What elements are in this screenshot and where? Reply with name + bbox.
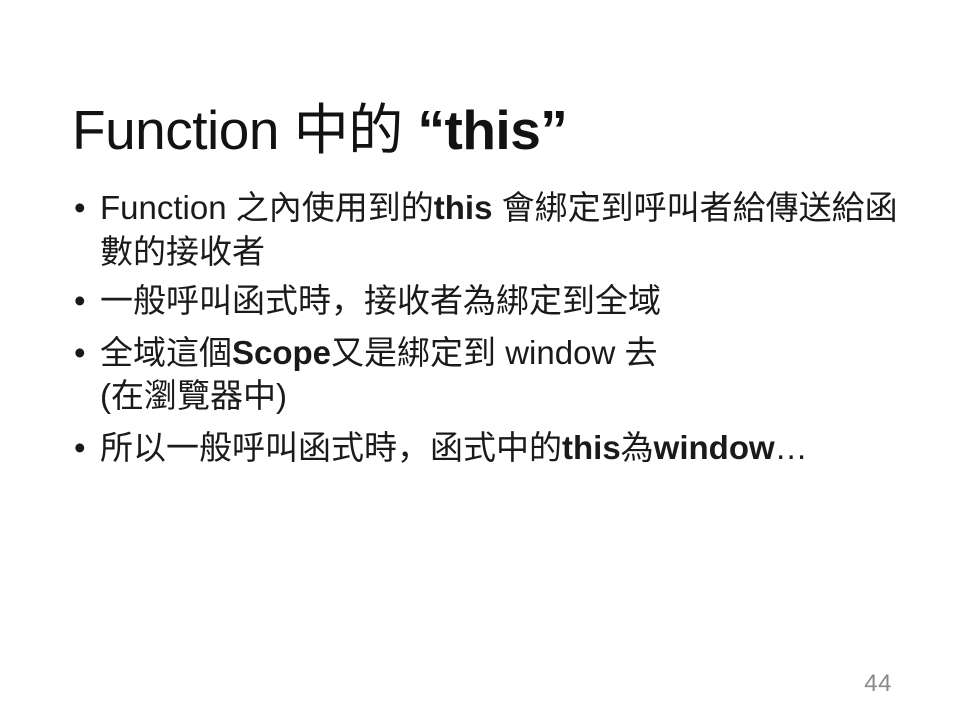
bullet-1-segment-b: 會綁定到呼叫者給 <box>492 189 765 226</box>
bullet-3-segment-b: 又是綁定到 window 去 <box>331 334 657 371</box>
slide-title-latin: Function <box>72 99 294 161</box>
bullet-3-keyword-scope: Scope <box>232 334 331 371</box>
bullet-4-keyword-window: window <box>654 429 775 466</box>
bullet-2-segment-a: 一般呼叫函式時，接收者為綁定到全域 <box>100 282 661 319</box>
bullet-dot-icon: • <box>74 331 86 375</box>
bullet-4-segment-b: 為 <box>621 429 654 466</box>
list-item: •一般呼叫函式時，接收者為綁定到全域 <box>68 279 898 323</box>
slide-title-quoted-this: “this” <box>418 99 568 161</box>
bullet-dot-icon: • <box>74 426 86 470</box>
bullet-3-segment-a: 全域這個 <box>100 334 232 371</box>
bullet-4-ellipsis: … <box>775 429 808 466</box>
bullet-dot-icon: • <box>74 186 86 230</box>
bullet-dot-icon: • <box>74 279 86 323</box>
slide-title-cjk: 中的 <box>294 99 418 161</box>
bullet-list: •Function 之內使用到的this 會綁定到呼叫者給傳送給函數的接收者 •… <box>68 186 898 469</box>
slide-canvas: Function 中的 “this” •Function 之內使用到的this … <box>0 0 960 720</box>
bullet-1-keyword-this: this <box>434 189 493 226</box>
bullet-3-line2: (在瀏覽器中) <box>100 377 287 414</box>
list-item: •全域這個Scope又是綁定到 window 去(在瀏覽器中) <box>68 331 898 418</box>
bullet-1-segment-a: Function 之內使用到的 <box>100 189 434 226</box>
slide-title: Function 中的 “this” <box>72 99 892 162</box>
list-item: •Function 之內使用到的this 會綁定到呼叫者給傳送給函數的接收者 <box>68 186 898 273</box>
list-item: •所以一般呼叫函式時，函式中的this為window… <box>68 426 898 470</box>
bullet-4-segment-a: 所以一般呼叫函式時，函式中的 <box>100 429 562 466</box>
page-number: 44 <box>864 670 892 698</box>
bullet-4-keyword-this: this <box>562 429 621 466</box>
